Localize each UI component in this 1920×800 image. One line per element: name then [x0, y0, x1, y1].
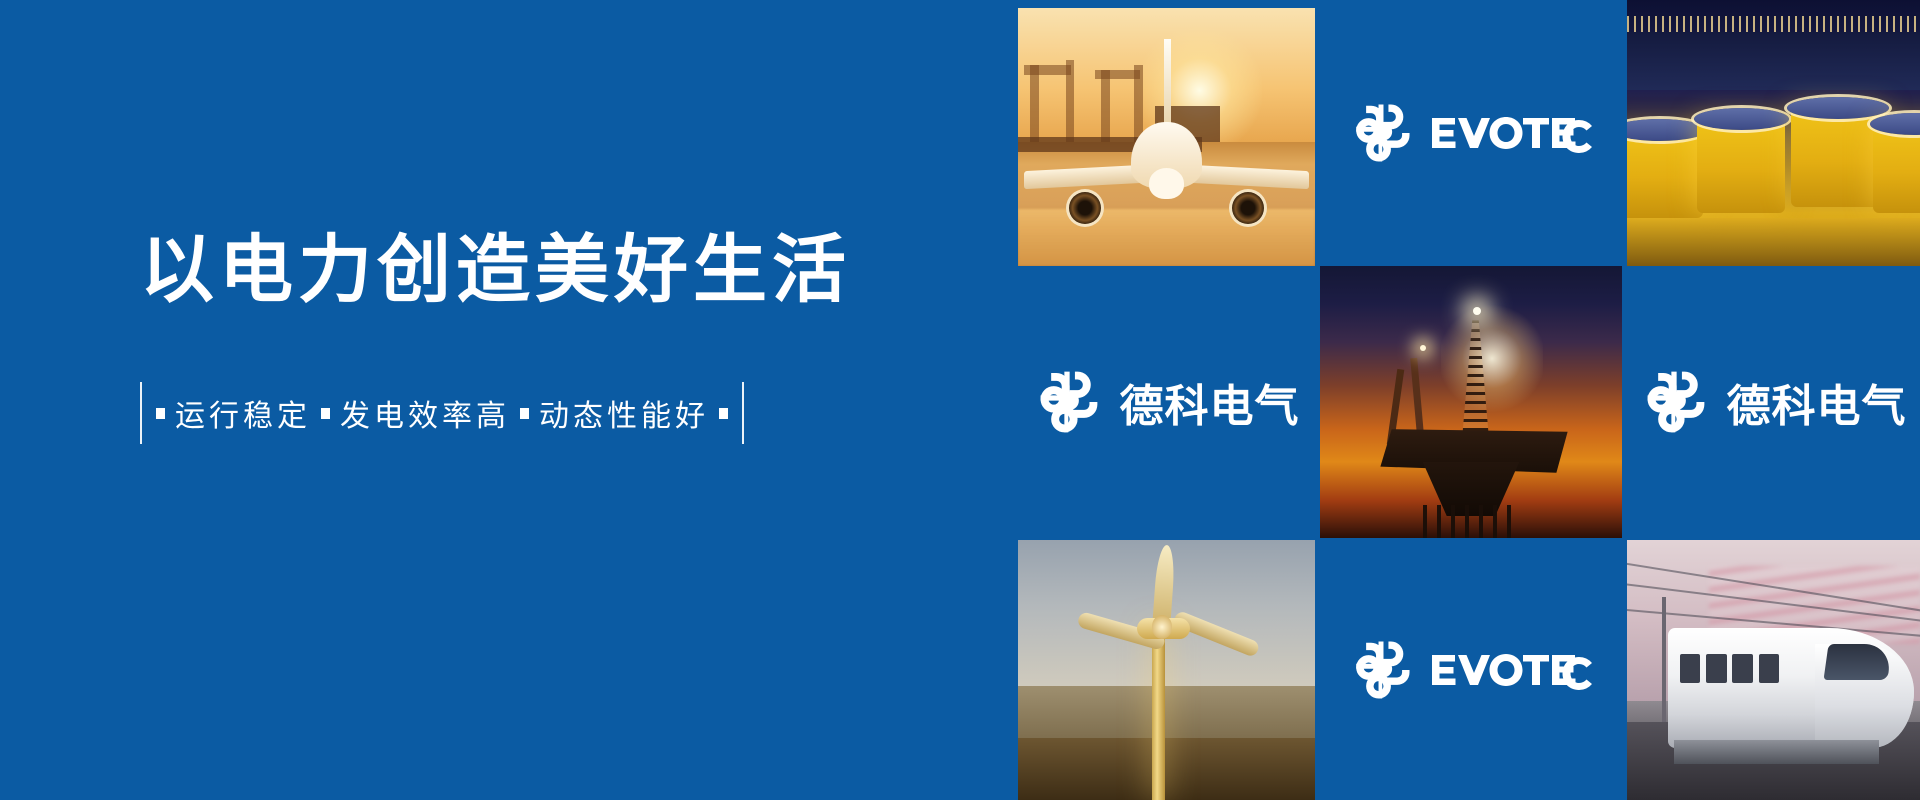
page-title: 以电力创造美好生活: [140, 230, 960, 311]
evotec-wordmark: [1432, 113, 1592, 153]
subtitle-item-1: 运行稳定: [175, 391, 311, 435]
airport-airplane-image: [1018, 8, 1315, 266]
grid-cell-oil-tanks-photo: [1627, 0, 1920, 266]
subtitle-item-3: 动态性能好: [539, 391, 709, 435]
grid-cell-train-photo: [1627, 540, 1920, 800]
chinese-wordmark: 德科电气: [1727, 370, 1907, 434]
grid-cell-evotec-logo-bottom: [1320, 540, 1622, 800]
hero-subtitle: 运行稳定 发电效率高 动态性能好: [140, 381, 960, 445]
subtitle-right-rule: [742, 382, 744, 444]
chinese-wordmark: 德科电气: [1120, 370, 1300, 434]
subtitle-item-2: 发电效率高: [340, 391, 510, 435]
bullet-icon: [719, 408, 728, 419]
bullet-icon: [321, 408, 330, 419]
subtitle-items: 运行稳定 发电效率高 动态性能好: [142, 391, 742, 435]
grid-cell-wind-turbine-photo: [1018, 540, 1315, 800]
oil-tank-farm-image: [1627, 0, 1920, 266]
wind-turbine-image: [1018, 540, 1315, 800]
brand-photo-grid: 德科电气: [1018, 0, 1920, 800]
grid-cell-chinese-logo-left: 德科电气: [1018, 266, 1315, 538]
offshore-oil-rig-image: [1320, 266, 1622, 538]
pinwheel-mark-icon: [1350, 639, 1412, 701]
grid-cell-airplane-photo: [1018, 8, 1315, 266]
bullet-icon: [520, 408, 529, 419]
subtitle-left-rule: [140, 382, 142, 444]
pinwheel-mark-icon: [1350, 102, 1412, 164]
pinwheel-mark-icon: [1641, 369, 1707, 435]
evotec-wordmark: [1432, 650, 1592, 690]
high-speed-train-image: [1627, 540, 1920, 800]
grid-cell-oil-rig-photo: [1320, 266, 1622, 538]
pinwheel-mark-icon: [1034, 369, 1100, 435]
grid-cell-chinese-logo-right: 德科电气: [1627, 266, 1920, 538]
grid-cell-evotec-logo-top: [1320, 0, 1622, 266]
bullet-icon: [156, 408, 165, 419]
hero-text-block: 以电力创造美好生活 运行稳定 发电效率高 动态性能好: [140, 230, 960, 445]
promotional-banner: 以电力创造美好生活 运行稳定 发电效率高 动态性能好: [0, 0, 1920, 800]
